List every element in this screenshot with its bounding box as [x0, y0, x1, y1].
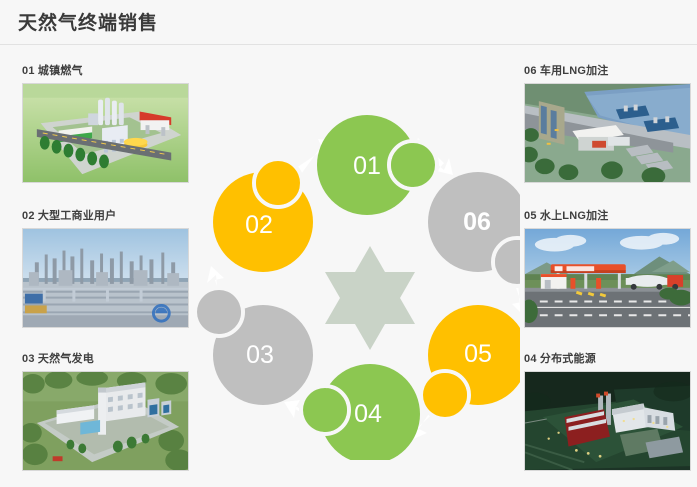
panel-03-thumbnail[interactable] [22, 371, 189, 471]
node-01-satellite [391, 143, 435, 187]
slide-canvas: 天然气终端销售 01 城镇燃气 [0, 0, 697, 487]
panel-05-label: 05 水上LNG加注 [524, 207, 694, 223]
node-02-satellite [256, 161, 300, 205]
node-05-satellite [423, 373, 467, 417]
node-05[interactable]: 05 [421, 305, 520, 419]
hexagonal-cycle-diagram: 01 02 03 04 [180, 80, 520, 460]
panel-06-thumbnail[interactable] [524, 83, 691, 183]
lng-road-station-image [525, 229, 690, 327]
panel-02-label: 02 大型工商业用户 [22, 207, 192, 223]
node-02-label: 02 [245, 211, 273, 239]
panel-02-thumbnail[interactable] [22, 228, 189, 328]
page-title: 天然气终端销售 [18, 8, 158, 35]
aerial-gas-plant-image [23, 84, 188, 182]
node-05-label: 05 [464, 340, 492, 368]
panel-06-label: 06 车用LNG加注 [524, 62, 694, 78]
panel-04[interactable]: 04 分布式能源 [524, 350, 694, 471]
gas-power-plant-image [23, 372, 188, 470]
panel-05[interactable]: 05 水上LNG加注 [524, 207, 694, 328]
distributed-energy-night-image [525, 372, 690, 470]
node-04[interactable]: 04 [301, 364, 420, 460]
node-06[interactable]: 06 [428, 172, 520, 286]
panel-04-thumbnail[interactable] [524, 371, 691, 471]
panel-06[interactable]: 06 车用LNG加注 [524, 62, 694, 183]
node-04-satellite [303, 388, 347, 432]
panel-04-label: 04 分布式能源 [524, 350, 694, 366]
node-01[interactable]: 01 [317, 115, 437, 215]
node-03-satellite [197, 290, 241, 334]
panel-01[interactable]: 01 城镇燃气 [22, 62, 192, 183]
center-star-icon [325, 246, 415, 350]
petrochemical-complex-image [23, 229, 188, 327]
panel-01-thumbnail[interactable] [22, 83, 189, 183]
node-03[interactable]: 03 [195, 288, 313, 405]
panel-03[interactable]: 03 天然气发电 [22, 350, 192, 471]
lng-waterfront-terminal-image [525, 84, 690, 182]
panel-01-label: 01 城镇燃气 [22, 62, 192, 78]
node-06-label: 06 [463, 208, 491, 236]
title-divider [0, 44, 697, 45]
node-02[interactable]: 02 [213, 159, 313, 272]
node-01-label: 01 [353, 152, 381, 180]
node-03-label: 03 [246, 341, 274, 369]
panel-03-label: 03 天然气发电 [22, 350, 192, 366]
panel-02[interactable]: 02 大型工商业用户 [22, 207, 192, 328]
node-04-label: 04 [354, 400, 382, 428]
cycle-diagram-svg: 01 02 03 04 [180, 80, 520, 460]
panel-05-thumbnail[interactable] [524, 228, 691, 328]
